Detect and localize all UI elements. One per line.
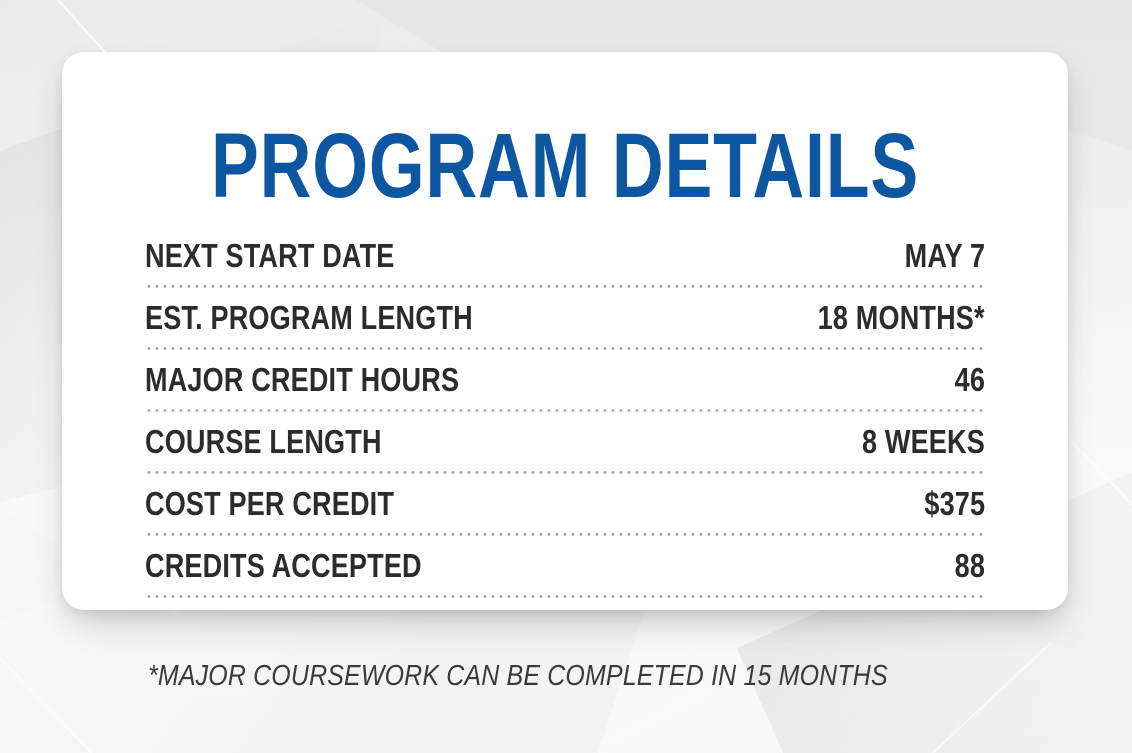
spec-label: COURSE LENGTH [145,425,382,458]
program-details-table: NEXT START DATEMAY 7EST. PROGRAM LENGTH1… [145,226,985,598]
table-row: CREDITS ACCEPTED88 [145,536,985,598]
table-row: COURSE LENGTH8 WEEKS [145,412,985,474]
spec-value: MAY 7 [904,239,985,272]
footnote-text: *MAJOR COURSEWORK CAN BE COMPLETED IN 15… [148,660,888,692]
spec-label: MAJOR CREDIT HOURS [145,363,459,396]
spec-label: COST PER CREDIT [145,487,394,520]
table-row: EST. PROGRAM LENGTH18 MONTHS* [145,288,985,350]
table-row: NEXT START DATEMAY 7 [145,226,985,288]
table-row-content: CREDITS ACCEPTED88 [145,536,985,582]
table-row-content: EST. PROGRAM LENGTH18 MONTHS* [145,288,985,334]
table-row-content: NEXT START DATEMAY 7 [145,226,985,272]
spec-value: 8 WEEKS [862,425,985,458]
spec-value: 88 [955,549,985,582]
page-title: PROGRAM DETAILS [173,120,958,212]
table-row: MAJOR CREDIT HOURS46 [145,350,985,412]
table-row-content: COURSE LENGTH8 WEEKS [145,412,985,458]
background-diagonal-line [670,642,1052,753]
spec-label: CREDITS ACCEPTED [145,549,422,582]
spec-value: 46 [955,363,985,396]
table-row-content: MAJOR CREDIT HOURS46 [145,350,985,396]
spec-label: EST. PROGRAM LENGTH [145,301,473,334]
spec-value: 18 MONTHS* [818,301,985,334]
spec-label: NEXT START DATE [145,239,395,272]
row-divider [145,595,985,598]
program-details-page: PROGRAM DETAILS NEXT START DATEMAY 7EST.… [0,0,1132,753]
table-row-content: COST PER CREDIT$375 [145,474,985,520]
spec-value: $375 [924,487,985,520]
table-row: COST PER CREDIT$375 [145,474,985,536]
program-details-card: PROGRAM DETAILS NEXT START DATEMAY 7EST.… [62,52,1068,610]
